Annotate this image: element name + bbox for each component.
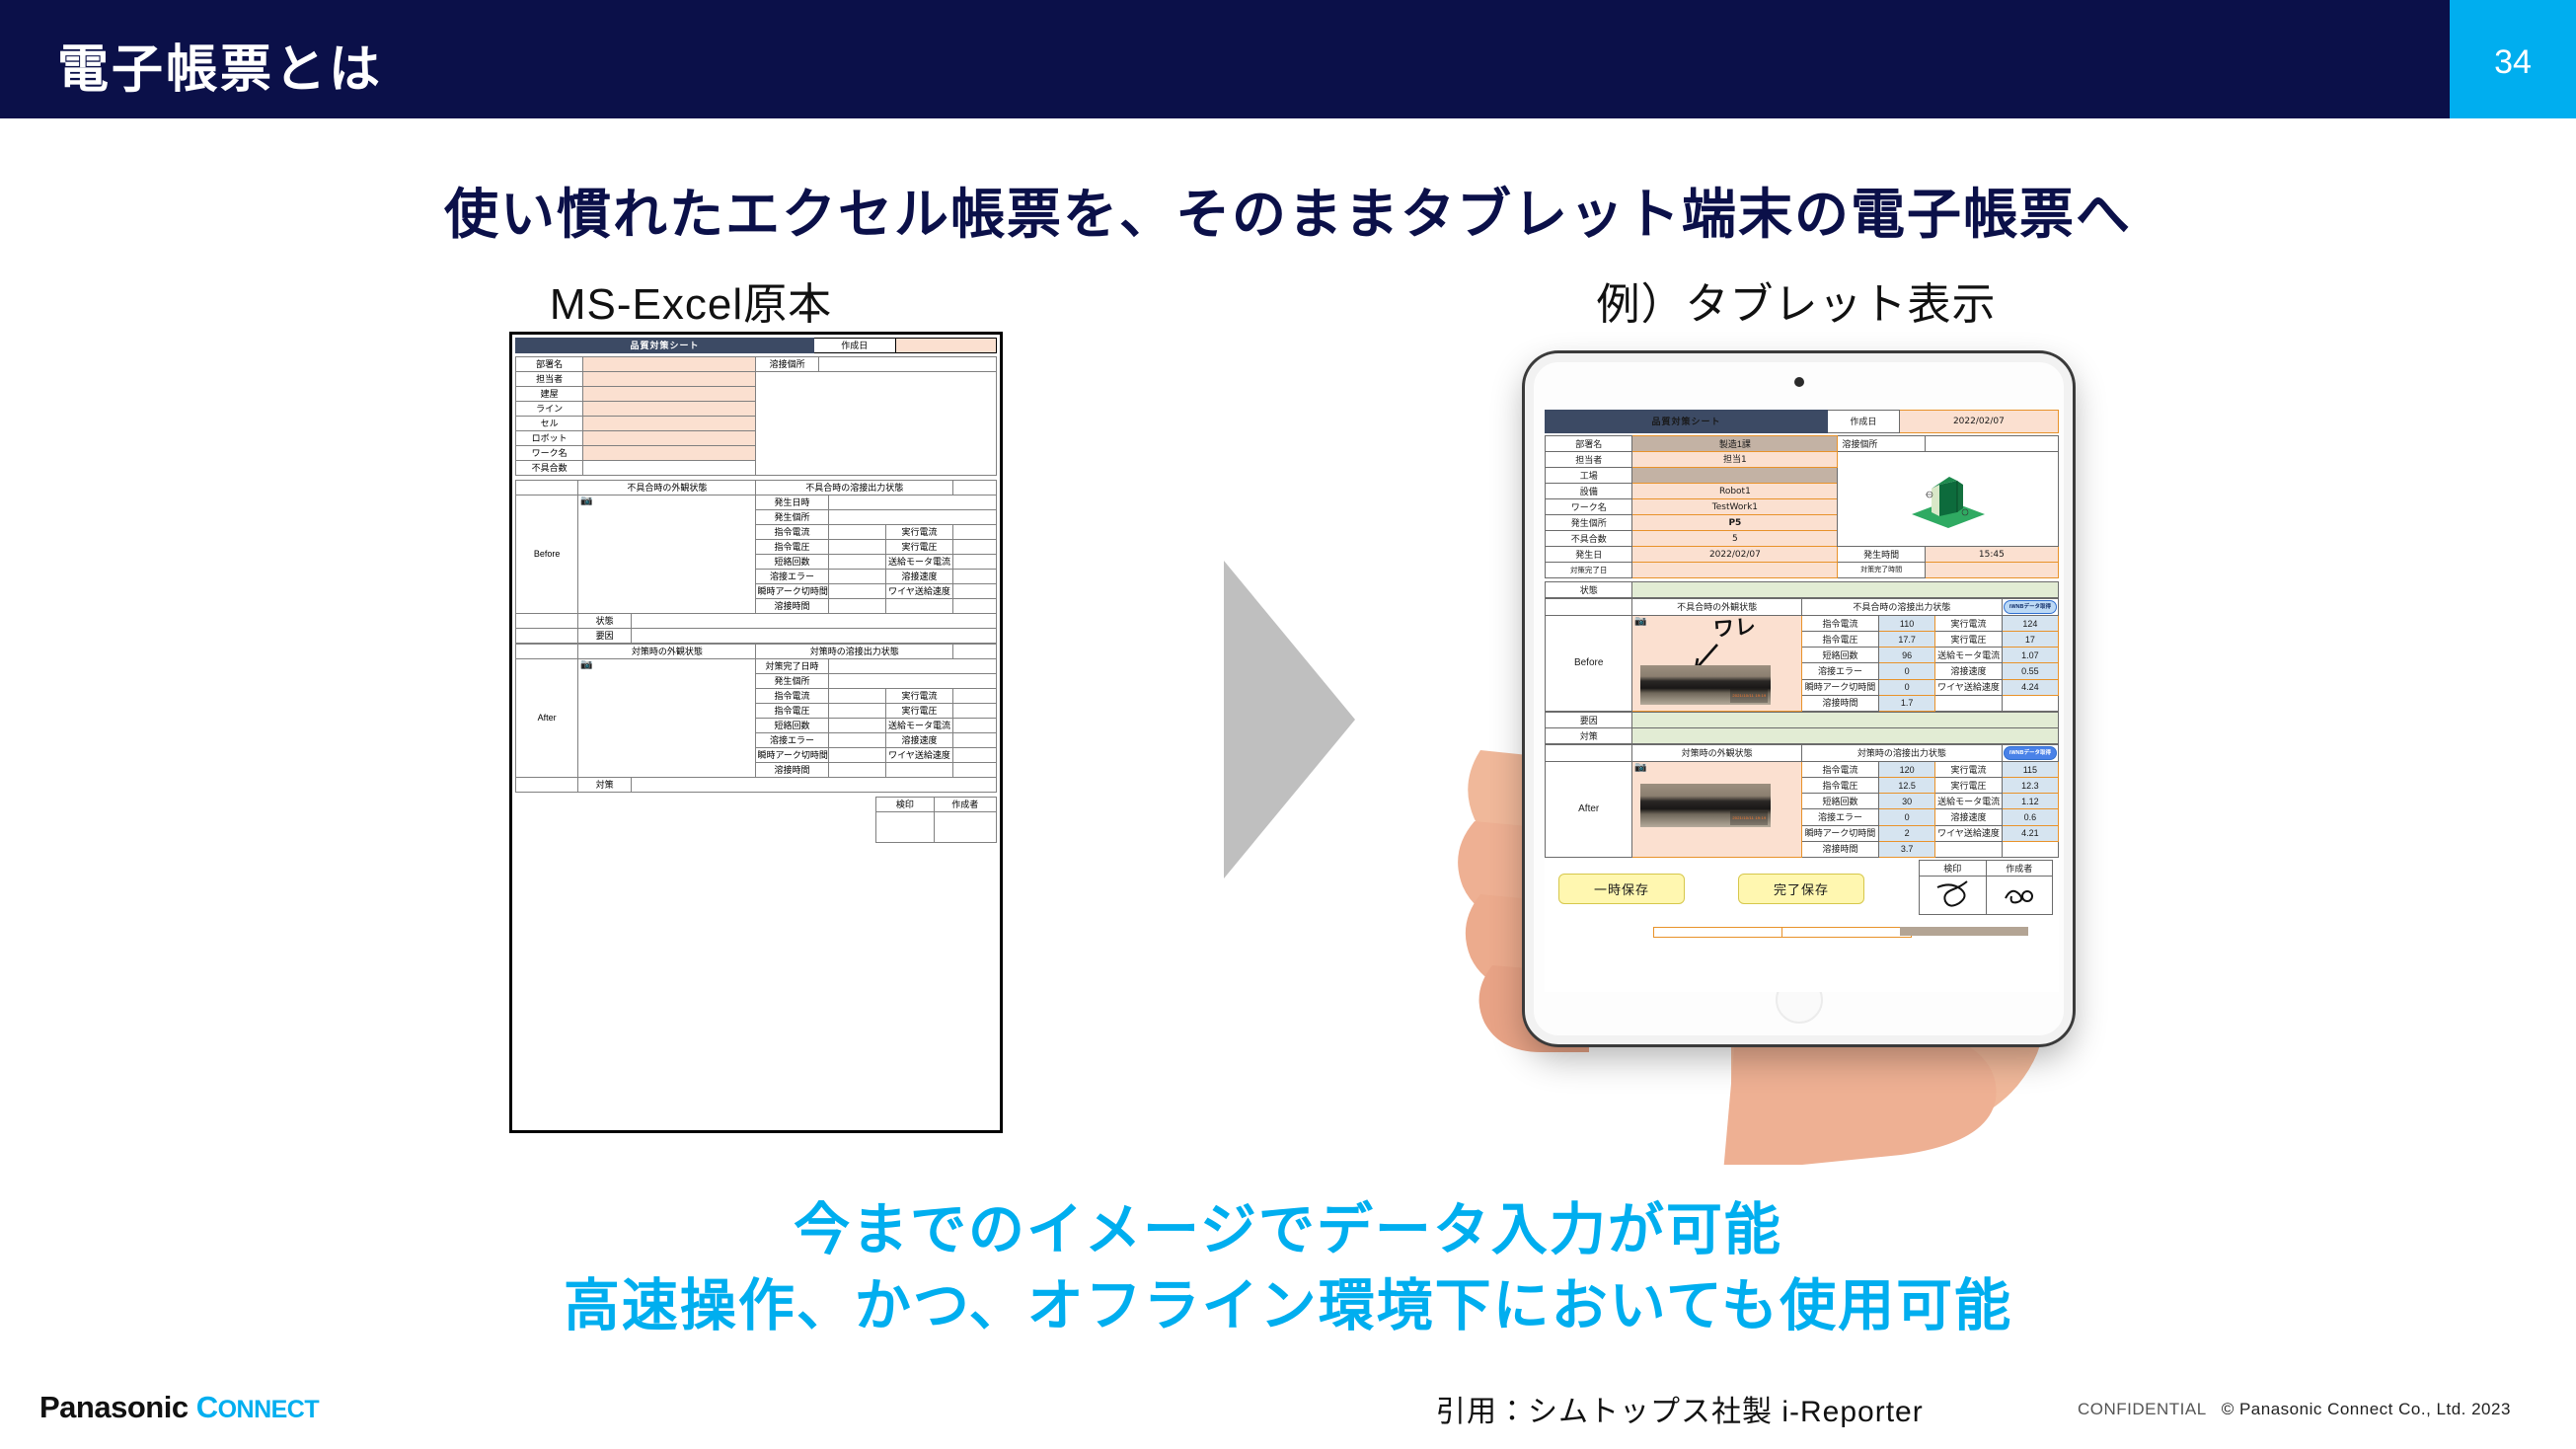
excel-value-tantosha [583,372,756,387]
page-number: 34 [2450,43,2576,82]
excel-after-table: 対策時の外観状態 対策時の溶接出力状態 After 📷 対策完了日時 発生個所 … [515,644,997,793]
tablet-value-hasseibi[interactable]: 2022/02/07 [1632,547,1838,563]
excel-before-label-2: 指令電流 [756,525,828,540]
excel-after-output-header: 対策時の溶接出力状態 [756,645,953,659]
iwnb-data-button[interactable]: iWNBデータ取得 [2004,600,2057,614]
slide-header: 電子帳票とは 34 [0,0,2576,118]
excel-sign-box-kenin [876,812,935,843]
tablet-before-label2-3: 溶接速度 [1935,663,2003,679]
citation-text: 引用：シムトップス社製 i-Reporter [1436,1387,1924,1430]
excel-before-footer-label-0: 状態 [578,614,632,629]
tablet-before-label-1: 指令電圧 [1801,632,1878,648]
excel-created-label: 作成日 [813,339,895,353]
excel-before-val-7 [828,599,885,614]
tablet-before-value2-2[interactable]: 1.07 [2002,648,2058,663]
excel-before-label2-5: 溶接速度 [885,570,952,584]
tablet-value-hasseijikan[interactable]: 15:45 [1925,547,2058,563]
excel-after-val-3 [828,704,885,719]
tablet-after-value2-0[interactable]: 115 [2002,762,2058,778]
tablet-before-label2-2: 送給モータ電流 [1935,648,2003,663]
tablet-before-value2-3[interactable]: 0.55 [2002,663,2058,679]
excel-before-val2-4 [953,555,997,570]
excel-before-row-label: Before [516,496,578,614]
excel-label-workname: ワーク名 [516,446,583,461]
final-save-button[interactable]: 完了保存 [1738,874,1864,904]
message-line-2: 高速操作、かつ、オフライン環境下においても使用可能 [0,1260,2576,1341]
tablet-before-table: 不具合時の外観状態 不具合時の溶接出力状態 iWNBデータ取得 Before 📷… [1545,598,2059,712]
tablet-value-workname[interactable]: TestWork1 [1632,499,1838,515]
excel-after-val-5 [828,733,885,748]
tablet-created-value[interactable]: 2022/02/07 [1899,411,2058,433]
excel-before-footer-label-1: 要因 [578,629,632,644]
tablet-value-setsubi[interactable]: Robot1 [1632,484,1838,499]
excel-before-label-4: 短絡回数 [756,555,828,570]
excel-before-val-0 [828,496,996,510]
tablet-label-yoin: 要因 [1546,713,1632,728]
excel-before-label2-4: 送給モータ電流 [885,555,952,570]
tablet-label-setsubi: 設備 [1546,484,1632,499]
excel-weld-image-area [756,372,997,476]
excel-value-bushomei [583,357,756,372]
excel-after-val2-3 [953,704,997,719]
tablet-after-value-2[interactable]: 30 [1878,794,1934,809]
excel-before-val2-6 [953,584,997,599]
excel-before-table: 不具合時の外観状態 不具合時の溶接出力状態 Before 📷 発生日時 発生個所… [515,480,997,644]
excel-before-label2-2: 実行電流 [885,525,952,540]
logo-panasonic: Panasonic [39,1390,189,1424]
tablet-after-label-5: 溶接時間 [1801,841,1878,857]
excel-before-label-3: 指令電圧 [756,540,828,555]
excel-label-bushomei: 部署名 [516,357,583,372]
tablet-value-tantosha[interactable]: 担当1 [1632,452,1838,468]
tablet-before-label-5: 溶接時間 [1801,695,1878,711]
excel-label-robot: ロボット [516,431,583,446]
excel-after-label-4: 短絡回数 [756,719,828,733]
tablet-sign-box-sakuseisha[interactable] [1986,877,2053,915]
excel-before-appearance-header: 不具合時の外観状態 [578,481,756,496]
camera-icon: 📷 [1634,617,1646,627]
excel-label-cell: セル [516,417,583,431]
excel-after-label2-6: ワイヤ送給速度 [885,748,952,763]
tablet-before-photo: 2021/10/11 19:19 [1640,665,1771,705]
excel-label-tantosha: 担当者 [516,372,583,387]
tablet-after-value-1[interactable]: 12.5 [1878,778,1934,794]
excel-after-label2-7 [885,763,952,778]
tablet-after-value2-5 [2002,841,2058,857]
excel-info-table: 部署名 溶接個所 担当者 建屋 ライン セル [515,356,997,476]
tablet-before-value-0[interactable]: 110 [1878,616,1934,632]
tablet-before-value-3[interactable]: 0 [1878,663,1934,679]
tablet-after-label2-1: 実行電圧 [1935,778,2003,794]
camera-icon: 📷 [580,660,592,670]
tablet-before-value2-0[interactable]: 124 [2002,616,2058,632]
tablet-after-row-label: After [1546,762,1632,858]
tablet-before-value-5[interactable]: 1.7 [1878,695,1934,711]
excel-after-label-2: 指令電流 [756,689,828,704]
tablet-before-appearance-header: 不具合時の外観状態 [1632,599,1802,616]
tablet-before-label2-5 [1935,695,2003,711]
excel-after-footer-label-0: 対策 [578,778,632,793]
tablet-state-table: 状態 [1545,581,2059,598]
tablet-title-table: 品質対策シート 作成日 2022/02/07 [1545,410,2059,433]
tablet-value-kojo[interactable] [1632,468,1838,484]
tablet-label-fuguaisu: 不具合数 [1546,531,1632,547]
tablet-value-taisakukanryojikan[interactable] [1925,563,2058,578]
tablet-weld-image-area [1838,452,2059,547]
tablet-before-label-4: 瞬時アーク切時間 [1801,679,1878,695]
excel-after-val-0 [828,659,996,674]
excel-after-label-1: 発生個所 [756,674,828,689]
tablet-label-workname: ワーク名 [1546,499,1632,515]
excel-before-footer-val-1 [631,629,996,644]
tablet-sign-header-kenin: 検印 [1920,861,1987,877]
tablet-after-label2-2: 送給モータ電流 [1935,794,2003,809]
tablet-label-hasseibi: 発生日 [1546,547,1632,563]
tablet-after-label-4: 瞬時アーク切時間 [1801,825,1878,841]
excel-before-photo-area: 📷 [578,496,756,614]
tablet-before-value-4[interactable]: 0 [1878,679,1934,695]
tablet-after-label-0: 指令電流 [1801,762,1878,778]
excel-value-line [583,402,756,417]
excel-after-photo-area: 📷 [578,659,756,778]
tablet-after-value-3[interactable]: 0 [1878,809,1934,825]
caption-excel: MS-Excel原本 [415,268,967,332]
excel-before-label-6: 瞬時アーク切時間 [756,584,828,599]
excel-before-label-1: 発生個所 [756,510,828,525]
excel-after-appearance-header: 対策時の外観状態 [578,645,756,659]
tablet-yosetsu-kasho-cell [1925,436,2058,452]
iwnb-data-button[interactable]: iWNBデータ取得 [2004,746,2057,760]
tablet-value-yoin[interactable] [1632,713,2059,728]
tablet-after-photo: 2021/10/11 19:19 [1640,784,1771,827]
tablet-after-value-0[interactable]: 120 [1878,762,1934,778]
temp-save-button[interactable]: 一時保存 [1558,874,1685,904]
tablet-after-photo-timestamp: 2021/10/11 19:19 [1730,811,1768,825]
excel-before-val-6 [828,584,885,599]
tablet-before-value-2[interactable]: 96 [1878,648,1934,663]
excel-before-footer-val-0 [631,614,996,629]
page-title: 電子帳票とは [57,28,383,102]
excel-header-table: 品質対策シート 作成日 [515,338,997,353]
tablet-label-taisakukanryobi: 対策完了日 [1546,563,1632,578]
excel-value-cell [583,417,756,431]
excel-value-tateya [583,387,756,402]
excel-value-workname [583,446,756,461]
excel-label-tateya: 建屋 [516,387,583,402]
tablet-after-value2-3[interactable]: 0.6 [2002,809,2058,825]
excel-before-val-3 [828,540,885,555]
excel-after-row-label: After [516,659,578,778]
excel-before-val-5 [828,570,885,584]
tablet-before-photo-area[interactable]: 📷 ワレ 2021/10/11 19:19 [1632,616,1802,712]
excel-title: 品質対策シート [516,339,814,353]
excel-after-label-5: 溶接エラー [756,733,828,748]
tablet-sign-header-sakuseisha: 作成者 [1986,861,2053,877]
tablet-value-taisaku[interactable] [1632,728,2059,744]
excel-before-val2-3 [953,540,997,555]
excel-after-label2-2: 実行電流 [885,689,952,704]
tablet-after-table: 対策時の外観状態 対策時の溶接出力状態 iWNBデータ取得 After 📷 20… [1545,744,2059,858]
excel-after-val-6 [828,748,885,763]
tablet-value-fuguaisu[interactable]: 5 [1632,531,1838,547]
tablet-after-label2-4: ワイヤ送給速度 [1935,825,2003,841]
tablet-before-value-1[interactable]: 17.7 [1878,632,1934,648]
excel-after-footer-val-0 [631,778,996,793]
tablet-value-jotai[interactable] [1632,582,2059,598]
caption-tablet: 例）タブレット表示 [1402,268,2191,332]
excel-after-val2-4 [953,719,997,733]
excel-value-robot [583,431,756,446]
excel-after-val2-5 [953,733,997,748]
tablet-before-label2-4: ワイヤ送給速度 [1935,679,2003,695]
status-field-1 [1653,927,1783,938]
tablet-sign-box-kenin[interactable] [1920,877,1987,915]
excel-sign-table: 検印 作成者 [515,797,997,843]
excel-after-val-2 [828,689,885,704]
tablet-label-kojo: 工場 [1546,468,1632,484]
excel-after-label-3: 指令電圧 [756,704,828,719]
tablet-sign-table: 検印 作成者 [1919,860,2053,915]
excel-before-val2-2 [953,525,997,540]
tablet-before-row-label: Before [1546,616,1632,712]
tablet-title: 品質対策シート [1546,411,1828,433]
logo-connect-rest: ONNECT [218,1396,320,1423]
weld-part-3d-icon [1904,467,1993,532]
tablet-after-label-1: 指令電圧 [1801,778,1878,794]
tablet-after-output-header: 対策時の溶接出力状態 [1801,745,2002,762]
tablet-before-label2-0: 実行電流 [1935,616,2003,632]
tablet-action-bar: 一時保存 完了保存 検印 作成者 [1545,864,2059,925]
excel-before-val2-5 [953,570,997,584]
tablet-value-bushomei[interactable]: 製造1課 [1632,436,1838,452]
excel-before-label2-3: 実行電圧 [885,540,952,555]
excel-sign-box-sakuseisha [934,812,996,843]
excel-label-line: ライン [516,402,583,417]
tablet-before-photo-annotation: ワレ [1713,620,1758,637]
excel-after-label-7: 溶接時間 [756,763,828,778]
tablet-screen: 品質対策シート 作成日 2022/02/07 部署名 製造1課 溶接個所 担当者… [1545,410,2059,992]
excel-after-label-6: 瞬時アーク切時間 [756,748,828,763]
tablet-status-bar [1545,925,2059,941]
excel-before-output-header: 不具合時の溶接出力状態 [756,481,953,496]
tablet-before-value2-1[interactable]: 17 [2002,632,2058,648]
tablet-before-label2-1: 実行電圧 [1935,632,2003,648]
confidential-label: CONFIDENTIAL [2078,1400,2206,1418]
tablet-after-value2-4[interactable]: 4.21 [2002,825,2058,841]
excel-after-val-7 [828,763,885,778]
excel-label-yosetsu-kasho: 溶接個所 [756,357,818,372]
tablet-label-taisaku: 対策 [1546,728,1632,744]
excel-label-fuguaisu: 不具合数 [516,461,583,476]
tablet-before-label-2: 短絡回数 [1801,648,1878,663]
tablet-before-iwnb-cell: iWNBデータ取得 [2002,599,2058,616]
excel-created-value [895,339,996,353]
tablet-camera-icon [1794,377,1804,387]
tablet-before-photo-timestamp: 2021/10/11 19:19 [1730,689,1768,703]
excel-sign-header-sakuseisha: 作成者 [934,798,996,812]
status-field-2 [1781,927,1912,938]
excel-before-label2-6: ワイヤ送給速度 [885,584,952,599]
tablet-after-label-3: 溶接エラー [1801,809,1878,825]
tablet-label-bushomei: 部署名 [1546,436,1632,452]
panasonic-connect-logo: Panasonic CONNECT [39,1390,319,1425]
signature-icon [1932,879,1972,909]
tablet-label-hasseikasho: 発生個所 [1546,515,1632,531]
tablet-after-photo-area[interactable]: 📷 2021/10/11 19:19 [1632,762,1802,858]
tablet-created-label: 作成日 [1828,411,1900,433]
excel-after-val-1 [828,674,996,689]
excel-after-label2-3: 実行電圧 [885,704,952,719]
tablet-after-iwnb-cell: iWNBデータ取得 [2002,745,2058,762]
excel-value-yosetsu-kasho [818,357,996,372]
camera-icon: 📷 [580,496,592,506]
excel-after-val2-6 [953,748,997,763]
message-line-1: 今までのイメージでデータ入力が可能 [0,1184,2576,1265]
tablet-before-output-header: 不具合時の溶接出力状態 [1801,599,2002,616]
tablet-info-table: 部署名 製造1課 溶接個所 担当者 担当1 [1545,435,2059,578]
tablet-before-label-3: 溶接エラー [1801,663,1878,679]
tablet-cause-table: 要因 対策 [1545,712,2059,744]
excel-before-val-2 [828,525,885,540]
camera-icon: 📷 [1634,763,1646,773]
tablet-device: 品質対策シート 作成日 2022/02/07 部署名 製造1課 溶接個所 担当者… [1525,353,2073,1044]
excel-before-label-7: 溶接時間 [756,599,828,614]
tablet-label-yosetsu-kasho: 溶接個所 [1838,436,1925,452]
tablet-after-value-5[interactable]: 3.7 [1878,841,1934,857]
excel-value-fuguaisu [583,461,756,476]
tablet-after-label2-3: 溶接速度 [1935,809,2003,825]
page-number-chip: 34 [2450,0,2576,118]
excel-before-label-0: 発生日時 [756,496,828,510]
excel-after-label2-4: 送給モータ電流 [885,719,952,733]
tablet-before-value2-5 [2002,695,2058,711]
excel-after-val2-2 [953,689,997,704]
excel-before-val2-7 [953,599,997,614]
excel-before-val-4 [828,555,885,570]
excel-after-label2-5: 溶接速度 [885,733,952,748]
tablet-after-label-2: 短絡回数 [1801,794,1878,809]
excel-before-val-1 [828,510,996,525]
tablet-after-label2-0: 実行電流 [1935,762,2003,778]
excel-after-label-0: 対策完了日時 [756,659,828,674]
tablet-value-taisakukanryobi[interactable] [1632,563,1838,578]
tablet-label-taisakukanryojikan: 対策完了時間 [1838,563,1925,578]
signature-icon [2000,880,2039,910]
tablet-after-label2-5 [1935,841,2003,857]
tablet-before-label-0: 指令電流 [1801,616,1878,632]
excel-after-val-4 [828,719,885,733]
excel-after-val2-7 [953,763,997,778]
tablet-after-value2-2[interactable]: 1.12 [2002,794,2058,809]
excel-sign-header-kenin: 検印 [876,798,935,812]
tablet-label-jotai: 状態 [1546,582,1632,598]
excel-original-form: 品質対策シート 作成日 部署名 溶接個所 担当者 建屋 [509,332,1003,1133]
tablet-after-value-4[interactable]: 2 [1878,825,1934,841]
excel-before-label2-7 [885,599,952,614]
tablet-after-value2-1[interactable]: 12.3 [2002,778,2058,794]
tablet-before-value2-4[interactable]: 4.24 [2002,679,2058,695]
headline-text: 使い慣れたエクセル帳票を、そのままタブレット端末の電子帳票へ [0,170,2576,249]
tablet-after-appearance-header: 対策時の外観状態 [1632,745,1802,762]
tablet-label-tantosha: 担当者 [1546,452,1632,468]
tablet-label-hasseijikan: 発生時間 [1838,547,1925,563]
tablet-value-hasseikasho[interactable]: P5 [1632,515,1838,531]
confidential-notice: CONFIDENTIAL © Panasonic Connect Co., Lt… [2078,1400,2511,1419]
excel-before-label-5: 溶接エラー [756,570,828,584]
right-triangle-arrow-icon [1224,561,1355,878]
status-field-3 [1900,927,2028,936]
copyright-text: © Panasonic Connect Co., Ltd. 2023 [2222,1400,2511,1418]
logo-connect-c: C [196,1390,218,1424]
